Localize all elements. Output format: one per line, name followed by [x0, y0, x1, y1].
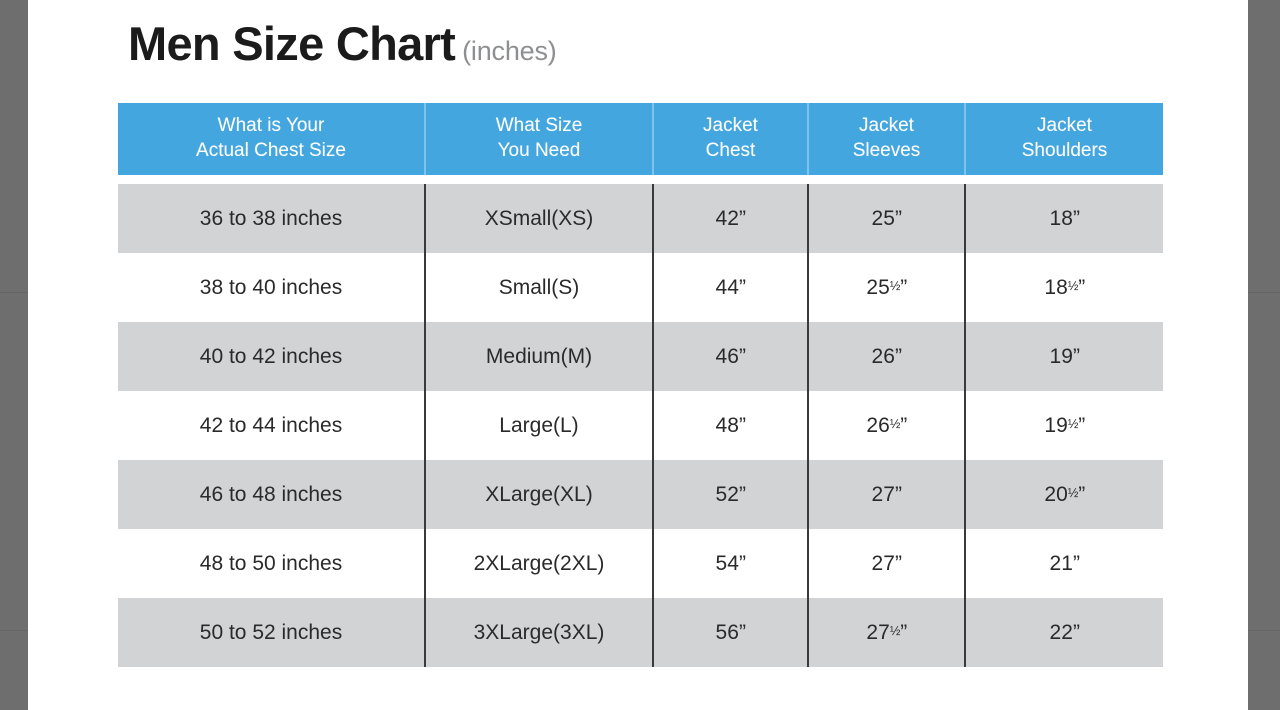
cell-actual-chest-size: 46 to 48 inches: [118, 460, 425, 529]
table-body: 36 to 38 inchesXSmall(XS)42”25”18”38 to …: [118, 175, 1163, 667]
header-line-1: Jacket: [703, 115, 758, 136]
cell-jacket-sleeves: 27½”: [808, 598, 965, 667]
cell-size-you-need: XLarge(XL): [425, 460, 653, 529]
header-line-1: Jacket: [1037, 115, 1092, 136]
header-line-1: What is Your: [218, 115, 325, 136]
size-chart-screen: Men Size Chart(inches) What is Your Actu…: [0, 0, 1280, 710]
column-header-actual-chest-size: What is Your Actual Chest Size: [118, 103, 425, 175]
table-row: 36 to 38 inchesXSmall(XS)42”25”18”: [118, 184, 1163, 253]
cell-jacket-sleeves: 27”: [808, 529, 965, 598]
table-row: 50 to 52 inches3XLarge(3XL)56”27½”22”: [118, 598, 1163, 667]
cell-jacket-sleeves: 26½”: [808, 391, 965, 460]
header-line-1: What Size: [496, 115, 583, 136]
table-row: 48 to 50 inches2XLarge(2XL)54”27”21”: [118, 529, 1163, 598]
column-header-jacket-chest: Jacket Chest: [653, 103, 808, 175]
header-line-2: Shoulders: [970, 139, 1159, 163]
cell-jacket-chest: 46”: [653, 322, 808, 391]
header-line-1: Jacket: [859, 115, 914, 136]
cell-jacket-chest: 42”: [653, 184, 808, 253]
cell-actual-chest-size: 38 to 40 inches: [118, 253, 425, 322]
letterbox-seam: [0, 630, 28, 631]
cell-size-you-need: XSmall(XS): [425, 184, 653, 253]
table-row: 46 to 48 inchesXLarge(XL)52”27”20½”: [118, 460, 1163, 529]
cell-jacket-chest: 56”: [653, 598, 808, 667]
right-letterbox-bar: [1248, 0, 1280, 710]
letterbox-seam: [1248, 630, 1280, 631]
header-row: What is Your Actual Chest Size What Size…: [118, 103, 1163, 175]
cell-jacket-chest: 44”: [653, 253, 808, 322]
table-row: 40 to 42 inchesMedium(M)46”26”19”: [118, 322, 1163, 391]
cell-actual-chest-size: 42 to 44 inches: [118, 391, 425, 460]
letterbox-seam: [0, 292, 28, 293]
cell-jacket-chest: 48”: [653, 391, 808, 460]
cell-actual-chest-size: 36 to 38 inches: [118, 184, 425, 253]
cell-jacket-shoulders: 20½”: [965, 460, 1163, 529]
cell-jacket-sleeves: 25½”: [808, 253, 965, 322]
letterbox-seam: [1248, 292, 1280, 293]
cell-jacket-chest: 52”: [653, 460, 808, 529]
cell-size-you-need: Medium(M): [425, 322, 653, 391]
cell-jacket-shoulders: 18”: [965, 184, 1163, 253]
cell-actual-chest-size: 48 to 50 inches: [118, 529, 425, 598]
cell-actual-chest-size: 50 to 52 inches: [118, 598, 425, 667]
cell-jacket-shoulders: 19”: [965, 322, 1163, 391]
page-title: Men Size Chart(inches): [128, 20, 557, 67]
cell-jacket-shoulders: 19½”: [965, 391, 1163, 460]
header-line-2: Actual Chest Size: [122, 139, 420, 163]
gap-cell: [118, 175, 1163, 184]
cell-actual-chest-size: 40 to 42 inches: [118, 322, 425, 391]
cell-jacket-shoulders: 21”: [965, 529, 1163, 598]
header-line-2: Chest: [658, 139, 803, 163]
cell-jacket-sleeves: 25”: [808, 184, 965, 253]
title-text: Men Size Chart: [128, 17, 455, 70]
title-unit-label: (inches): [462, 36, 556, 66]
table-row: 38 to 40 inchesSmall(S)44”25½”18½”: [118, 253, 1163, 322]
table-row: 42 to 44 inchesLarge(L)48”26½”19½”: [118, 391, 1163, 460]
cell-size-you-need: 2XLarge(2XL): [425, 529, 653, 598]
column-header-jacket-sleeves: Jacket Sleeves: [808, 103, 965, 175]
cell-jacket-sleeves: 27”: [808, 460, 965, 529]
left-letterbox-bar: [0, 0, 28, 710]
header-line-2: You Need: [430, 139, 648, 163]
cell-size-you-need: Small(S): [425, 253, 653, 322]
size-chart-table: What is Your Actual Chest Size What Size…: [118, 103, 1163, 667]
column-header-jacket-shoulders: Jacket Shoulders: [965, 103, 1163, 175]
column-header-size-you-need: What Size You Need: [425, 103, 653, 175]
header-body-gap: [118, 175, 1163, 184]
cell-jacket-chest: 54”: [653, 529, 808, 598]
cell-jacket-sleeves: 26”: [808, 322, 965, 391]
cell-jacket-shoulders: 22”: [965, 598, 1163, 667]
table-header: What is Your Actual Chest Size What Size…: [118, 103, 1163, 175]
cell-size-you-need: 3XLarge(3XL): [425, 598, 653, 667]
cell-jacket-shoulders: 18½”: [965, 253, 1163, 322]
cell-size-you-need: Large(L): [425, 391, 653, 460]
chart-page: Men Size Chart(inches) What is Your Actu…: [28, 0, 1248, 710]
header-line-2: Sleeves: [813, 139, 960, 163]
